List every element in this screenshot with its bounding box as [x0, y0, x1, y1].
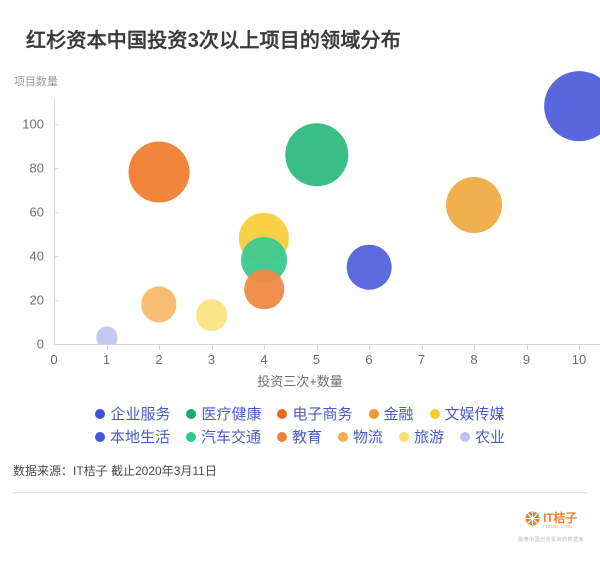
legend-item-医疗健康[interactable]: 医疗健康 — [186, 403, 261, 424]
legend-item-企业服务[interactable]: 企业服务 — [95, 403, 170, 424]
bubble-本地生活[interactable] — [347, 245, 392, 290]
x-tick-label: 0 — [50, 352, 57, 367]
legend-dot-icon — [369, 409, 379, 419]
y-tick-mark — [54, 212, 59, 213]
legend-item-农业[interactable]: 农业 — [460, 426, 505, 447]
y-axis-line — [54, 98, 55, 344]
y-tick-label: 80 — [0, 161, 52, 176]
x-tick-mark — [474, 344, 475, 350]
x-tick-mark — [422, 344, 423, 350]
x-tick-mark — [317, 344, 318, 350]
legend: 企业服务医疗健康电子商务金融文娱传媒本地生活汽车交通教育物流旅游农业 — [0, 402, 600, 448]
y-tick-label: 0 — [0, 337, 52, 352]
bubble-电子商务[interactable] — [129, 142, 190, 203]
x-tick-mark — [369, 344, 370, 350]
legend-item-金融[interactable]: 金融 — [369, 403, 414, 424]
legend-dot-icon — [430, 409, 440, 419]
legend-dot-icon — [186, 409, 196, 419]
bubble-layer — [54, 60, 600, 344]
legend-label: 文娱传媒 — [445, 403, 505, 424]
y-tick-mark — [54, 168, 59, 169]
legend-item-物流[interactable]: 物流 — [338, 426, 383, 447]
legend-label: 企业服务 — [110, 403, 170, 424]
x-tick-mark — [527, 344, 528, 350]
x-tick-mark — [107, 344, 108, 350]
x-tick-label: 1 — [103, 352, 110, 367]
x-tick-label: 8 — [470, 352, 477, 367]
x-tick-mark — [264, 344, 265, 350]
bubble-旅游[interactable] — [196, 300, 228, 332]
legend-item-旅游[interactable]: 旅游 — [399, 426, 444, 447]
legend-dot-icon — [277, 409, 287, 419]
y-tick-label: 100 — [0, 117, 52, 132]
x-tick-mark — [159, 344, 160, 350]
legend-label: 医疗健康 — [201, 403, 261, 424]
legend-dot-icon — [186, 432, 196, 442]
legend-item-汽车交通[interactable]: 汽车交通 — [186, 426, 261, 447]
y-tick-label: 60 — [0, 205, 52, 220]
y-tick-label: 40 — [0, 249, 52, 264]
legend-label: 汽车交通 — [201, 426, 261, 447]
legend-dot-icon — [95, 432, 105, 442]
bubble-农业[interactable] — [96, 327, 117, 344]
x-tick-label: 2 — [155, 352, 162, 367]
x-tick-label: 10 — [572, 352, 586, 367]
bubble-chart-plot-area — [54, 60, 600, 344]
page-title: 红杉资本中国投资3次以上项目的领域分布 — [26, 24, 401, 53]
bubble-企业服务[interactable] — [544, 72, 600, 142]
legend-dot-icon — [277, 432, 287, 442]
y-tick-label: 20 — [0, 293, 52, 308]
logo-main: IT桔子 ITJUZI.COM — [525, 511, 577, 531]
y-tick-mark — [54, 124, 59, 125]
legend-item-文娱传媒[interactable]: 文娱传媒 — [430, 403, 505, 424]
legend-label: 教育 — [292, 426, 322, 447]
legend-dot-icon — [460, 432, 470, 442]
legend-row-2: 本地生活汽车交通教育物流旅游农业 — [0, 425, 600, 448]
x-tick-label: 5 — [313, 352, 320, 367]
logo-name: IT桔子 — [543, 512, 577, 524]
logo-wordmark: IT桔子 ITJUZI.COM — [543, 512, 577, 530]
data-source-note: 数据来源：IT桔子 截止2020年3月11日 — [13, 462, 217, 479]
legend-dot-icon — [338, 432, 348, 442]
x-tick-mark — [579, 344, 580, 350]
logo-tagline: 最懂中国创业投资的数据库 — [518, 536, 584, 543]
legend-item-本地生活[interactable]: 本地生活 — [95, 426, 170, 447]
y-tick-mark — [54, 300, 59, 301]
legend-label: 电子商务 — [292, 403, 352, 424]
legend-item-电子商务[interactable]: 电子商务 — [277, 403, 352, 424]
logo-url: ITJUZI.COM — [543, 525, 577, 530]
x-tick-label: 9 — [523, 352, 530, 367]
legend-dot-icon — [399, 432, 409, 442]
bubble-医疗健康[interactable] — [285, 123, 348, 186]
x-axis-title: 投资三次+数量 — [0, 371, 600, 390]
legend-label: 本地生活 — [110, 426, 170, 447]
bubble-物流[interactable] — [141, 287, 176, 322]
legend-label: 物流 — [353, 426, 383, 447]
x-tick-label: 6 — [365, 352, 372, 367]
legend-dot-icon — [95, 409, 105, 419]
pinwheel-icon — [525, 511, 540, 531]
legend-label: 金融 — [384, 403, 414, 424]
x-tick-label: 4 — [260, 352, 267, 367]
x-tick-mark — [212, 344, 213, 350]
x-tick-label: 3 — [208, 352, 215, 367]
x-tick-label: 7 — [418, 352, 425, 367]
bubble-教育[interactable] — [244, 269, 284, 309]
bubble-金融[interactable] — [446, 177, 502, 233]
legend-label: 农业 — [475, 426, 505, 447]
y-axis-title: 项目数量 — [14, 73, 58, 89]
legend-label: 旅游 — [414, 426, 444, 447]
legend-item-教育[interactable]: 教育 — [277, 426, 322, 447]
brand-logo: IT桔子 ITJUZI.COM 最懂中国创业投资的数据库 — [512, 511, 590, 543]
footer-divider — [13, 492, 587, 493]
x-axis-line — [54, 344, 600, 345]
legend-row-1: 企业服务医疗健康电子商务金融文娱传媒 — [0, 402, 600, 425]
y-tick-mark — [54, 256, 59, 257]
